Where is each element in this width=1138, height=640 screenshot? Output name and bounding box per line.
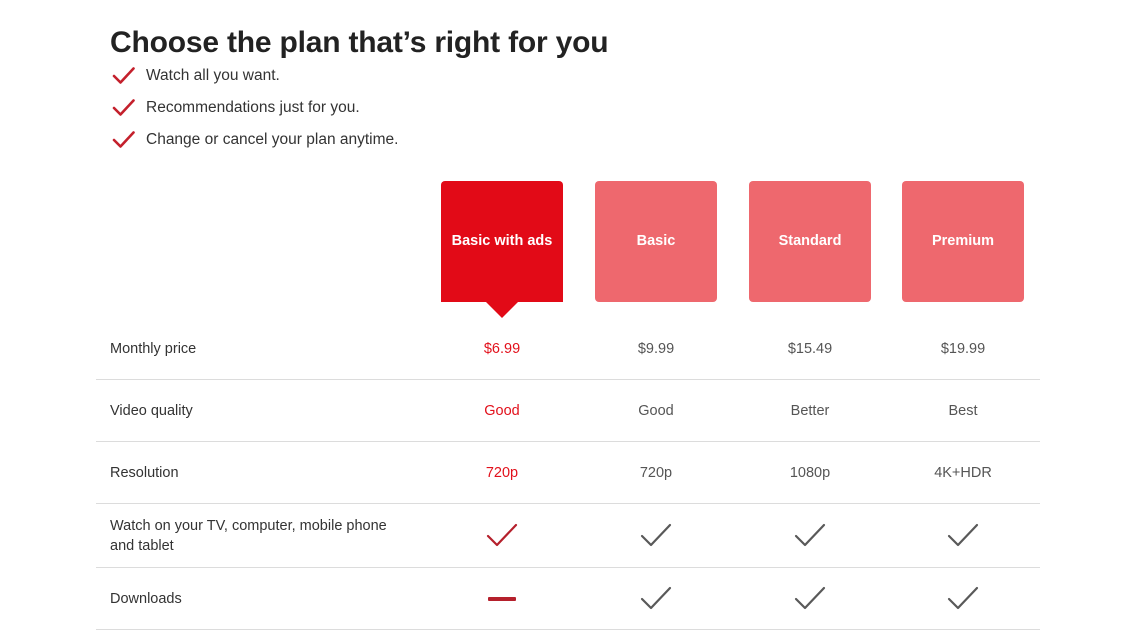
check-icon [485,522,519,550]
table-cell [749,568,871,629]
table-row: Video quality Good Good Better Best [96,380,1040,442]
table-row: Watch on your TV, computer, mobile phone… [96,504,1040,568]
plan-card-label: Standard [779,232,842,251]
plan-card-label: Premium [932,232,994,251]
table-cell: 4K+HDR [902,442,1024,503]
table-cell: 720p [441,442,563,503]
selected-plan-pointer-icon [485,301,519,318]
table-cell [902,568,1024,629]
check-icon [793,585,827,613]
benefit-label: Change or cancel your plan anytime. [146,131,398,149]
check-icon [112,128,140,152]
dash-icon [488,597,516,601]
check-icon [112,64,140,88]
feature-label: Watch on your TV, computer, mobile phone… [110,504,410,567]
table-cell: Better [749,380,871,441]
check-icon [946,585,980,613]
table-row: Resolution 720p 720p 1080p 4K+HDR [96,442,1040,504]
table-cell: 1080p [749,442,871,503]
plan-card-premium[interactable]: Premium [902,181,1024,302]
plan-card-standard[interactable]: Standard [749,181,871,302]
table-row: Monthly price $6.99 $9.99 $15.49 $19.99 [96,318,1040,380]
plan-card-label: Basic with ads [452,232,553,251]
table-cell: Good [441,380,563,441]
table-cell [595,568,717,629]
table-cell: $15.49 [749,318,871,379]
benefit-label: Recommendations just for you. [146,99,360,117]
table-cell: $19.99 [902,318,1024,379]
plan-card-row: Basic with ads Basic Standard Premium [0,181,1138,306]
plan-comparison-table: Monthly price $6.99 $9.99 $15.49 $19.99 … [96,318,1040,630]
table-cell [902,504,1024,567]
table-cell [441,568,563,629]
table-cell [441,504,563,567]
table-cell: 720p [595,442,717,503]
table-cell: Best [902,380,1024,441]
plan-card-basic[interactable]: Basic [595,181,717,302]
table-row: Downloads [96,568,1040,630]
table-cell [749,504,871,567]
benefit-item: Watch all you want. [112,60,712,92]
benefit-label: Watch all you want. [146,67,280,85]
feature-label: Resolution [110,442,410,503]
table-cell: Good [595,380,717,441]
benefit-item: Recommendations just for you. [112,92,712,124]
feature-label: Video quality [110,380,410,441]
check-icon [793,522,827,550]
feature-label: Downloads [110,568,410,629]
check-icon [112,96,140,120]
plan-comparison-page: Choose the plan that’s right for you Wat… [0,0,1138,640]
table-cell: $6.99 [441,318,563,379]
benefit-item: Change or cancel your plan anytime. [112,124,712,156]
benefits-list: Watch all you want. Recommendations just… [112,60,712,156]
plan-card-label: Basic [637,232,676,251]
page-title: Choose the plan that’s right for you [110,26,608,60]
table-cell: $9.99 [595,318,717,379]
plan-card-basic-with-ads[interactable]: Basic with ads [441,181,563,302]
feature-label: Monthly price [110,318,410,379]
check-icon [639,585,673,613]
check-icon [639,522,673,550]
table-cell [595,504,717,567]
check-icon [946,522,980,550]
